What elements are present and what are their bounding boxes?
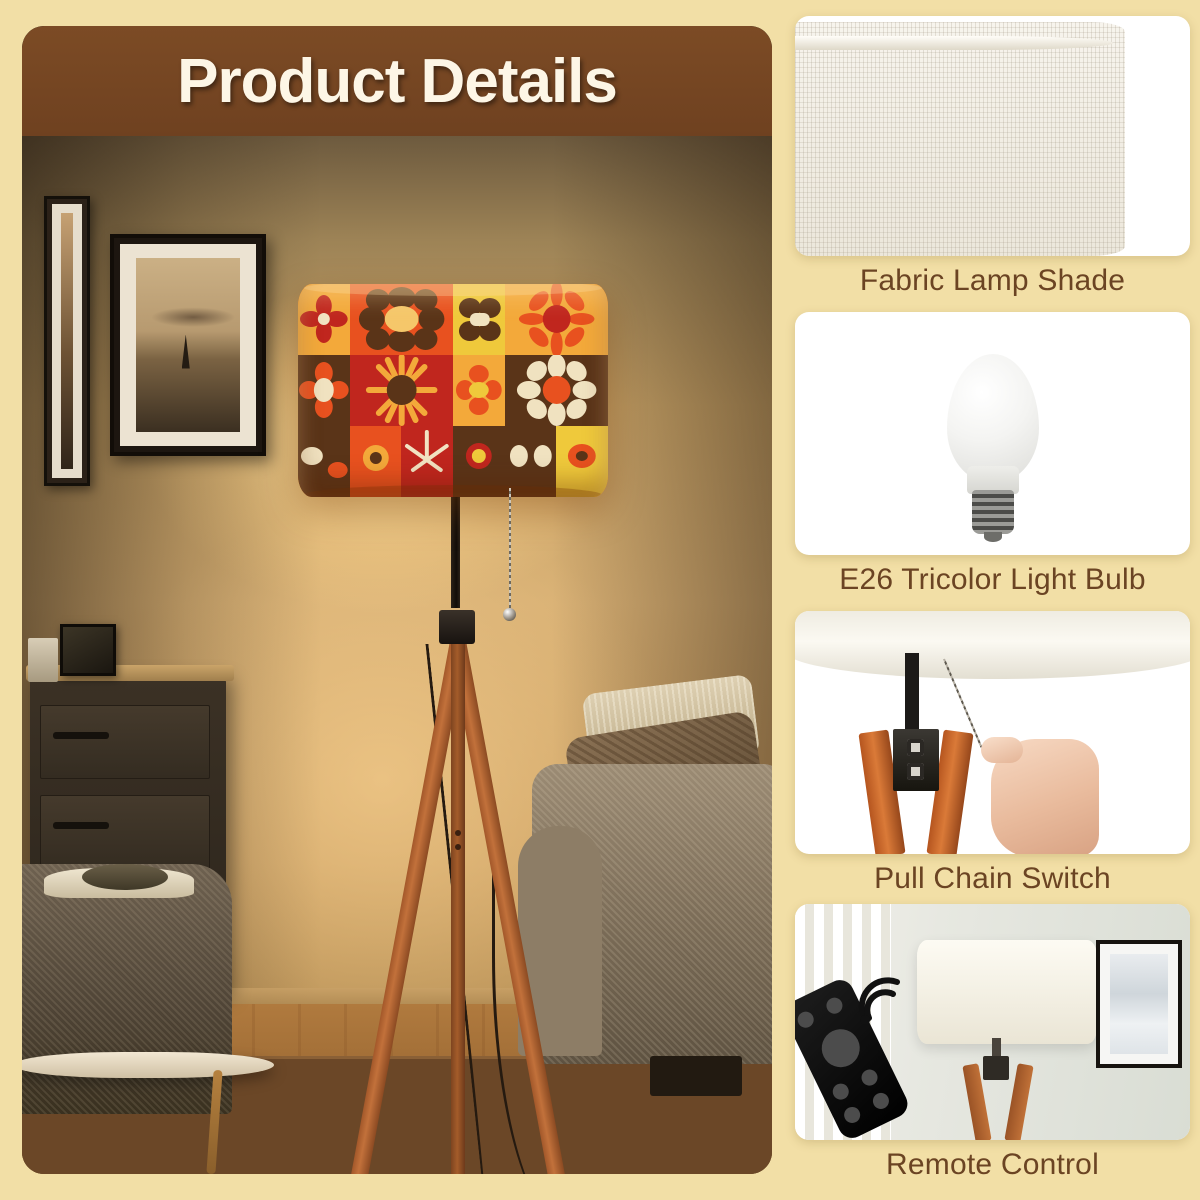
light-bulb-thumbnail[interactable] bbox=[795, 312, 1190, 555]
remote-button bbox=[859, 1067, 880, 1088]
pull-chain-switch-thumbnail[interactable] bbox=[795, 611, 1190, 854]
lamp-shade bbox=[917, 940, 1097, 1044]
hero-product-image[interactable]: Product Details bbox=[22, 26, 772, 1174]
tripod-leg-center bbox=[451, 620, 465, 1174]
shade-pattern-grid bbox=[298, 284, 608, 497]
page-title-banner: Product Details bbox=[22, 26, 772, 136]
screw-icon bbox=[907, 763, 924, 780]
framed-wall-art bbox=[1096, 940, 1182, 1068]
retro-floral-lamp-shade bbox=[298, 284, 608, 497]
finger-gripping-chain bbox=[981, 737, 1023, 763]
pattern-tile bbox=[505, 355, 608, 426]
feature-card-fabric-lamp-shade[interactable]: Fabric Lamp Shade bbox=[795, 16, 1190, 298]
tripod-hub bbox=[893, 729, 939, 791]
tripod-hub bbox=[983, 1056, 1009, 1080]
tripod-hub bbox=[439, 610, 475, 644]
remote-button bbox=[830, 1081, 851, 1102]
bulb-contact-tip bbox=[984, 532, 1002, 542]
lamp-stem bbox=[905, 653, 919, 731]
screw-icon bbox=[907, 739, 924, 756]
remote-button bbox=[841, 1104, 862, 1125]
feature-thumbnail-rail: Fabric Lamp Shade E26 Tricolor Light Bul… bbox=[795, 0, 1200, 1200]
remote-button bbox=[870, 1090, 891, 1111]
product-details-page: Product Details bbox=[0, 0, 1200, 1200]
floor-lamp bbox=[22, 136, 772, 1174]
feature-card-remote-control[interactable]: Remote Control bbox=[795, 904, 1190, 1182]
remote-button bbox=[795, 1009, 816, 1030]
lamp-shade-underside bbox=[795, 611, 1190, 679]
feature-label-remote-control: Remote Control bbox=[795, 1140, 1190, 1182]
linen-fabric-texture bbox=[795, 22, 1125, 256]
remote-control-thumbnail[interactable] bbox=[795, 904, 1190, 1140]
pattern-tile bbox=[350, 355, 453, 426]
pattern-tile bbox=[298, 426, 350, 497]
feature-label-fabric-lamp-shade: Fabric Lamp Shade bbox=[795, 256, 1190, 298]
bulb-screw-base-icon bbox=[972, 490, 1014, 534]
fabric-lamp-shade-thumbnail[interactable] bbox=[795, 16, 1190, 256]
feature-label-pull-chain-switch: Pull Chain Switch bbox=[795, 854, 1190, 896]
feature-label-light-bulb: E26 Tricolor Light Bulb bbox=[795, 555, 1190, 597]
signal-wave-icon bbox=[853, 968, 913, 1028]
remote-dpad bbox=[815, 1023, 866, 1074]
bulb-glass bbox=[947, 354, 1039, 482]
pattern-tile bbox=[556, 426, 608, 497]
shade-rim-edge bbox=[795, 36, 1113, 50]
room-scene bbox=[22, 136, 772, 1174]
lamp-stem bbox=[451, 488, 460, 608]
feature-card-light-bulb[interactable]: E26 Tricolor Light Bulb bbox=[795, 312, 1190, 597]
pattern-tile bbox=[298, 355, 350, 426]
feature-card-pull-chain-switch[interactable]: Pull Chain Switch bbox=[795, 611, 1190, 896]
pull-chain-knob[interactable] bbox=[503, 608, 516, 621]
page-title: Product Details bbox=[177, 46, 617, 117]
pattern-tile bbox=[453, 355, 505, 426]
pattern-tile bbox=[298, 284, 350, 355]
pull-chain[interactable] bbox=[509, 488, 511, 610]
remote-button bbox=[824, 995, 845, 1016]
